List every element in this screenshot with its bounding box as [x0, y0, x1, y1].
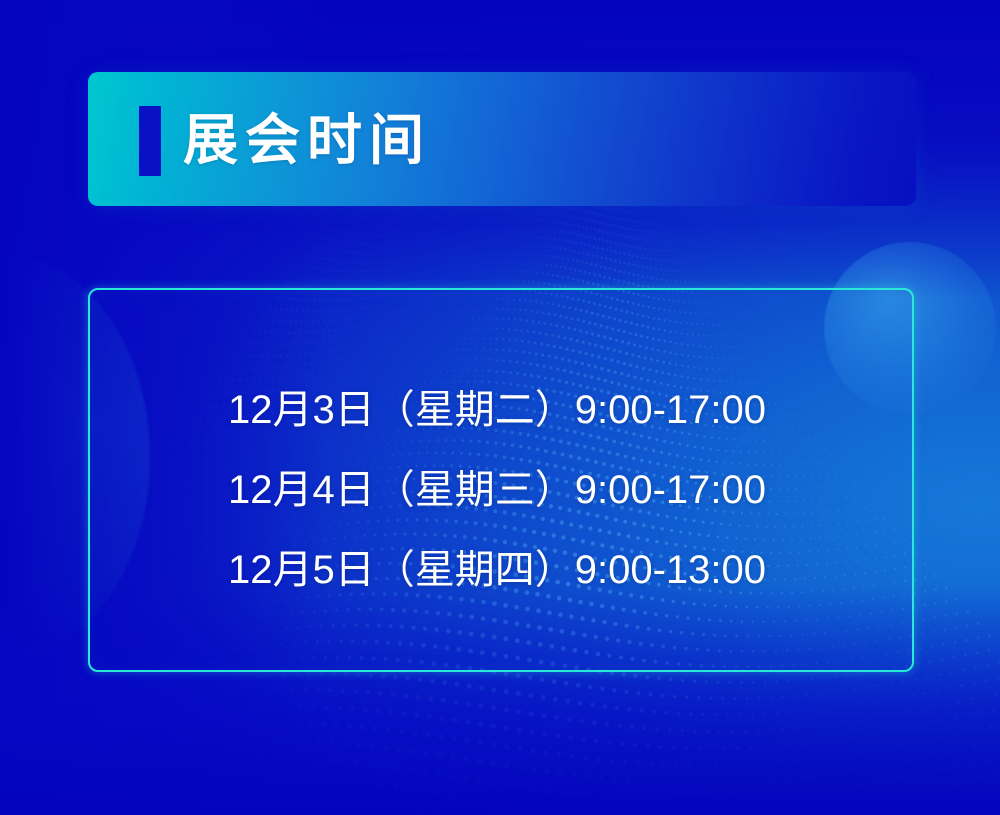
schedule-list: 12月3日（星期二）9:00-17:00 12月4日（星期三）9:00-17:0…: [228, 370, 788, 610]
schedule-line: 12月4日（星期三）9:00-17:00: [228, 450, 788, 530]
schedule-line: 12月3日（星期二）9:00-17:00: [228, 370, 788, 450]
schedule-line: 12月5日（星期四）9:00-13:00: [228, 530, 788, 610]
title-accent-bar: [139, 106, 161, 176]
page-title: 展会时间: [183, 94, 431, 186]
title-banner: 展会时间: [88, 72, 916, 206]
poster-canvas: 展会时间 12月3日（星期二）9:00-17:00 12月4日（星期三）9:00…: [0, 0, 1000, 815]
